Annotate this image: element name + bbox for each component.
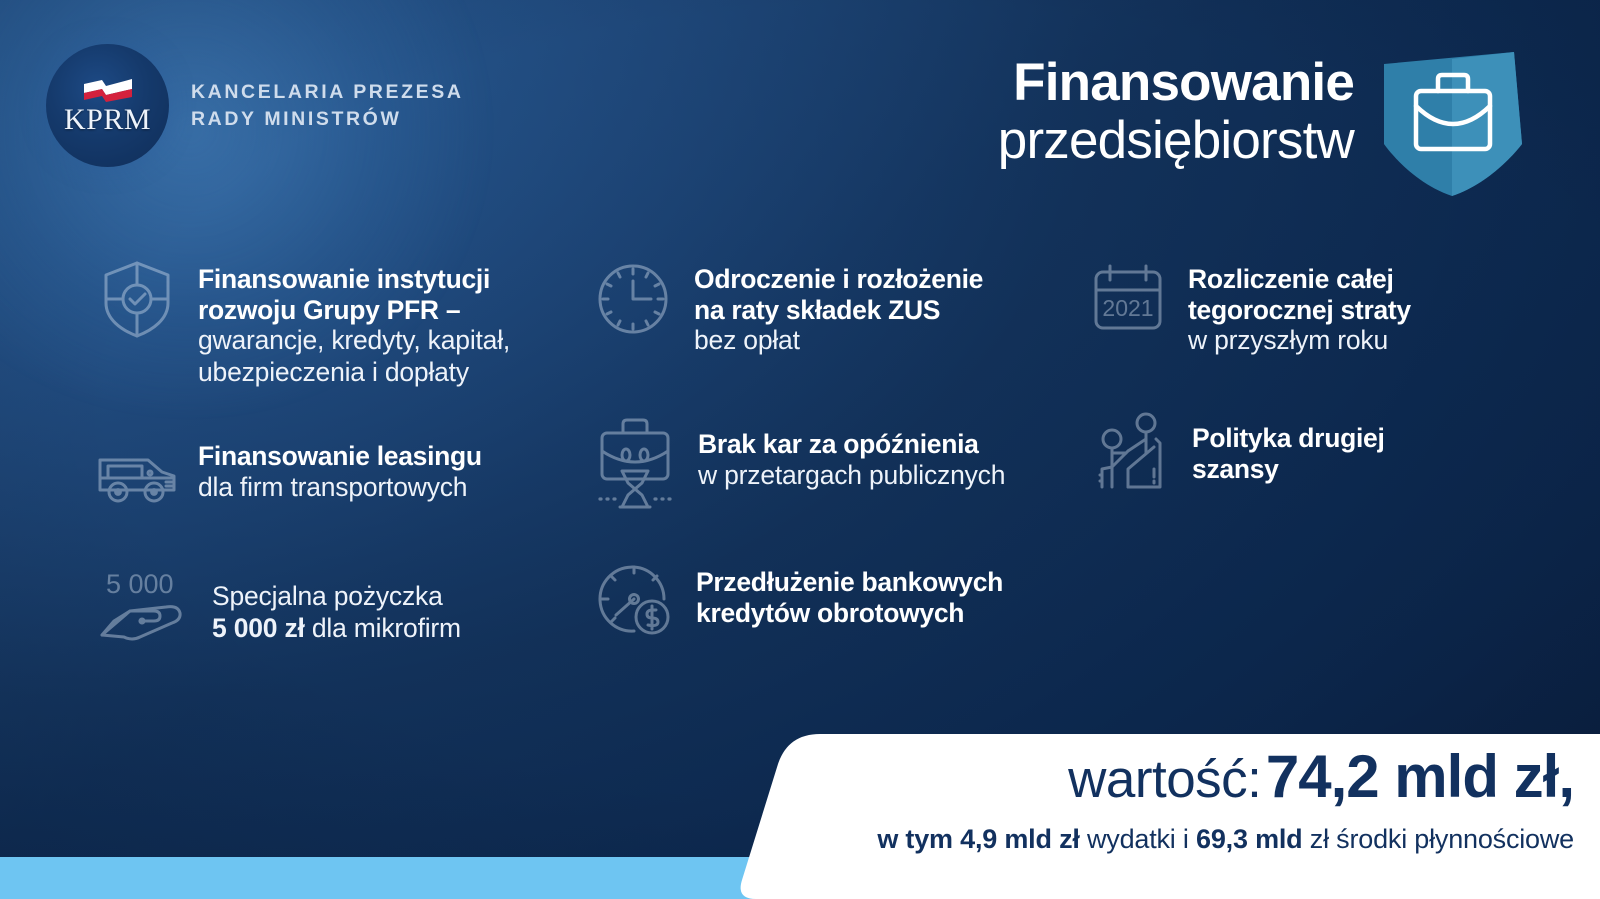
item-mixed-line: 5 000 zł dla mikrofirm (212, 613, 461, 645)
item-strong-line: Odroczenie i rozłożenie (694, 264, 983, 295)
item-strong-line: Rozliczenie całej (1188, 264, 1411, 295)
item-light-line: dla firm transportowych (198, 472, 482, 504)
value-sub-part2: wydatki i (1080, 824, 1196, 854)
item-strong-line: Polityka drugiej (1192, 423, 1385, 454)
item-light-line: Specjalna pożyczka (212, 581, 461, 613)
list-item: Polityka drugiej szansy (1088, 409, 1558, 497)
list-item-text: Rozliczenie całej tegorocznej straty w p… (1188, 258, 1411, 357)
item-strong-line: tegorocznej straty (1188, 295, 1411, 326)
list-item-text: Odroczenie i rozłożenie na raty składek … (694, 258, 983, 357)
hand-money-5000-icon: 5 000 (96, 563, 192, 649)
kprm-logo-block: KPRM KANCELARIA PREZESA RADY MINISTRÓW (46, 44, 464, 167)
gauge-dollar-icon (592, 557, 676, 641)
briefcase-shield-icon (1376, 48, 1528, 200)
hand-icon-amount-label: 5 000 (106, 569, 174, 599)
item-light-line: gwarancje, kredyty, kapitał, (198, 325, 510, 357)
column-2: Odroczenie i rozłożenie na raty składek … (592, 258, 1092, 641)
calendar-2021-icon: 2021 (1088, 258, 1168, 338)
list-item-text: Finansowanie instytucji rozwoju Grupy PF… (198, 258, 510, 389)
bottom-accent-strip (0, 857, 790, 899)
item-mixed-bold: 5 000 zł (212, 613, 305, 643)
infographic-canvas: KPRM KANCELARIA PREZESA RADY MINISTRÓW F… (0, 0, 1600, 899)
value-banner-main: wartość: 74,2 mld zł, (1068, 747, 1574, 807)
list-item: Brak kar za opóźnienia w przetargach pub… (592, 413, 1092, 509)
clock-icon (592, 258, 674, 340)
item-strong-line: rozwoju Grupy PFR – (198, 295, 510, 326)
van-icon (96, 435, 178, 517)
kprm-logo-text-line2: RADY MINISTRÓW (191, 106, 464, 133)
list-item-text: Finansowanie leasingu dla firm transport… (198, 435, 482, 504)
list-item-text: Specjalna pożyczka 5 000 zł dla mikrofir… (212, 563, 461, 645)
kprm-logo-text-line1: KANCELARIA PREZESA (191, 79, 464, 106)
kprm-logo-circle: KPRM (46, 44, 169, 167)
briefcase-hourglass-icon (592, 413, 678, 509)
item-strong-line: Finansowanie leasingu (198, 441, 482, 472)
item-strong-line: kredytów obrotowych (696, 598, 1003, 629)
list-item: Finansowanie instytucji rozwoju Grupy PF… (96, 258, 596, 389)
item-light-line: ubezpieczenia i dopłaty (198, 357, 510, 389)
list-item-text: Polityka drugiej szansy (1192, 409, 1385, 484)
helping-hand-climb-icon (1088, 409, 1172, 497)
item-strong-line: na raty składek ZUS (694, 295, 983, 326)
calendar-icon-year-label: 2021 (1102, 295, 1153, 321)
list-item: Przedłużenie bankowych kredytów obrotowy… (592, 557, 1092, 641)
page-title-line1: Finansowanie (998, 54, 1354, 111)
list-item-text: Przedłużenie bankowych kredytów obrotowy… (696, 557, 1003, 628)
value-amount: 74,2 mld zł, (1266, 743, 1574, 810)
shield-check-icon (96, 258, 178, 340)
item-strong-line: Brak kar za opóźnienia (698, 429, 1005, 460)
list-item: Odroczenie i rozłożenie na raty składek … (592, 258, 1092, 357)
list-item: 2021 Rozliczenie całej tegorocznej strat… (1088, 258, 1558, 357)
polish-flag-icon (82, 77, 134, 103)
value-sub-part3: 69,3 mld (1196, 824, 1302, 854)
item-strong-line: Finansowanie instytucji (198, 264, 510, 295)
item-strong-line: Przedłużenie bankowych (696, 567, 1003, 598)
column-1: Finansowanie instytucji rozwoju Grupy PF… (96, 258, 596, 649)
page-title: Finansowanie przedsiębiorstw (998, 54, 1354, 172)
item-light-line: bez opłat (694, 325, 983, 357)
column-3: 2021 Rozliczenie całej tegorocznej strat… (1088, 258, 1558, 497)
kprm-logo-word: KPRM (64, 105, 151, 135)
item-light-line: w przyszłym roku (1188, 325, 1411, 357)
item-strong-line: szansy (1192, 454, 1385, 485)
list-item: Finansowanie leasingu dla firm transport… (96, 435, 596, 517)
value-label: wartość: (1068, 750, 1261, 809)
page-title-line2: przedsiębiorstw (998, 111, 1354, 171)
kprm-logo-text: KANCELARIA PREZESA RADY MINISTRÓW (191, 79, 464, 133)
item-light-line: w przetargach publicznych (698, 460, 1005, 492)
list-item-text: Brak kar za opóźnienia w przetargach pub… (698, 413, 1005, 492)
value-sub-part1: w tym 4,9 mld zł (877, 824, 1079, 854)
value-banner-subtext: w tym 4,9 mld zł wydatki i 69,3 mld zł ś… (877, 824, 1574, 855)
value-sub-part4: zł środki płynnościowe (1302, 824, 1574, 854)
list-item: 5 000 Specjalna pożyczka 5 000 zł dla mi… (96, 563, 596, 649)
item-mixed-normal: dla mikrofirm (305, 613, 461, 643)
